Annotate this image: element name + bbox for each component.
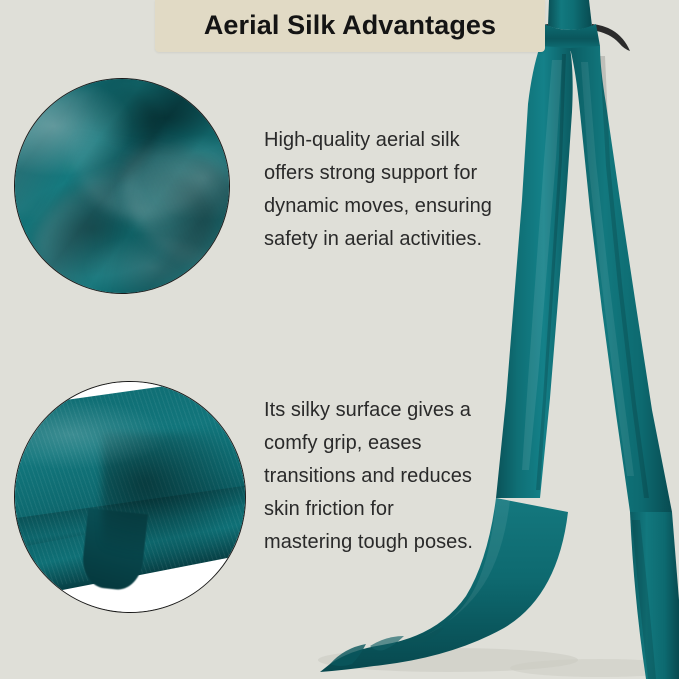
flowing-teal-silk-closeup bbox=[15, 79, 229, 293]
feature-image-texture bbox=[14, 381, 246, 613]
feature-text-texture: Its silky surface gives a comfy grip, ea… bbox=[264, 394, 514, 559]
folded-teal-fabric bbox=[15, 382, 245, 612]
rigging-strap-hardware-right bbox=[592, 24, 630, 51]
infographic-canvas: Aerial Silk Advantages High-quality aeri… bbox=[0, 0, 679, 679]
feature-image-strength bbox=[14, 78, 230, 294]
hanging-aerial-silk-photo bbox=[300, 0, 679, 679]
fabric-highlight bbox=[14, 400, 167, 469]
page-title: Aerial Silk Advantages bbox=[204, 12, 496, 41]
feature-text-strength: High-quality aerial silk offers strong s… bbox=[264, 124, 514, 256]
title-banner: Aerial Silk Advantages bbox=[155, 0, 545, 52]
